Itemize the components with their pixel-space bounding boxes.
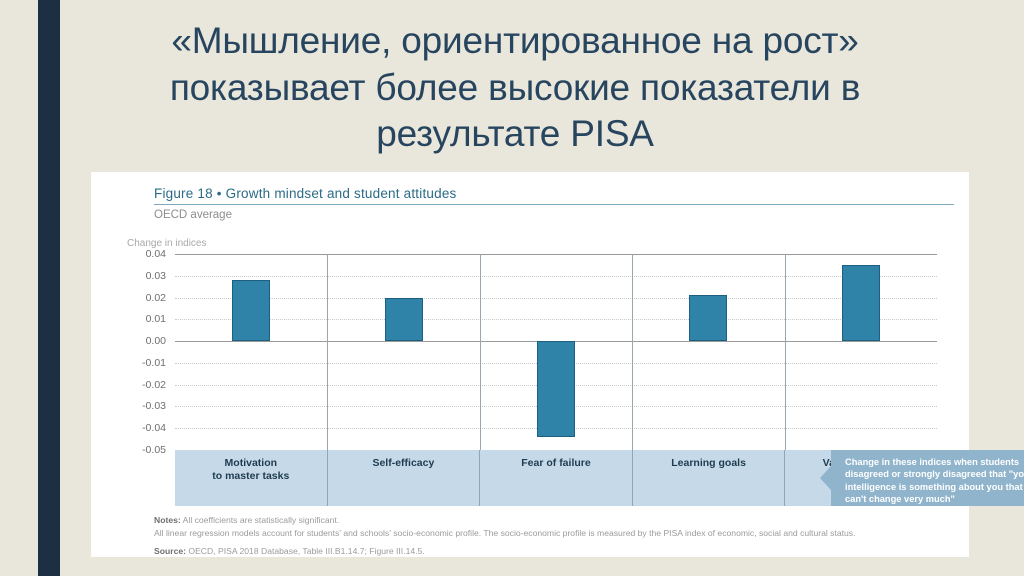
y-axis-caption: Change in indices — [127, 238, 207, 249]
category-label: Learning goals — [671, 457, 746, 470]
gridline — [175, 276, 937, 277]
category-label: Self-efficacy — [372, 457, 434, 470]
panel-divider — [480, 254, 481, 450]
source-text: OECD, PISA 2018 Database, Table III.B1.1… — [188, 546, 424, 556]
page-title: «Мышление, ориентированное на рост» пока… — [90, 18, 940, 158]
gridline — [175, 319, 937, 320]
y-tick-label: -0.02 — [142, 379, 166, 391]
slide-accent-stripe — [38, 0, 60, 576]
bar — [232, 280, 270, 341]
bar — [537, 341, 575, 437]
panel-divider — [785, 254, 786, 450]
category-label: Fear of failure — [521, 457, 590, 470]
category-cell: Self-efficacy — [328, 450, 481, 506]
figure-notes: Notes: All coefficients are statisticall… — [154, 514, 964, 558]
y-axis-tick-labels: 0.040.030.020.010.00-0.01-0.02-0.03-0.04… — [127, 254, 171, 450]
bar — [689, 295, 727, 341]
category-cell: Fear of failure — [480, 450, 633, 506]
notes-label: Notes: — [154, 515, 181, 525]
y-tick-label: -0.05 — [142, 444, 166, 456]
gridline — [175, 254, 937, 255]
y-tick-label: -0.01 — [142, 357, 166, 369]
y-tick-label: 0.03 — [146, 270, 166, 282]
source-label: Source: — [154, 546, 186, 556]
y-tick-label: -0.03 — [142, 400, 166, 412]
bar — [842, 265, 880, 341]
y-tick-label: 0.02 — [146, 292, 166, 304]
category-cell: Motivationto master tasks — [175, 450, 328, 506]
category-label: Motivationto master tasks — [212, 457, 289, 483]
panel-divider — [327, 254, 328, 450]
y-tick-label: 0.01 — [146, 313, 166, 325]
bar — [385, 298, 423, 342]
panel-divider — [632, 254, 633, 450]
category-cell: Learning goals — [633, 450, 786, 506]
y-tick-label: 0.00 — [146, 335, 166, 347]
notes-line-1: All coefficients are statistically signi… — [183, 515, 340, 525]
y-tick-label: 0.04 — [146, 248, 166, 260]
figure-subtitle: OECD average — [154, 209, 954, 221]
figure-panel: Figure 18 • Growth mindset and student a… — [91, 172, 969, 557]
notes-line-2: All linear regression models account for… — [154, 527, 964, 540]
figure-header: Figure 18 • Growth mindset and student a… — [154, 186, 954, 221]
callout-note: Change in these indices when students di… — [831, 450, 1024, 506]
y-tick-label: -0.04 — [142, 422, 166, 434]
figure-title: Figure 18 • Growth mindset and student a… — [154, 186, 954, 205]
gridline — [175, 298, 937, 299]
plot-area: 0.040.030.020.010.00-0.01-0.02-0.03-0.04… — [127, 254, 937, 450]
plot-canvas — [175, 254, 937, 450]
